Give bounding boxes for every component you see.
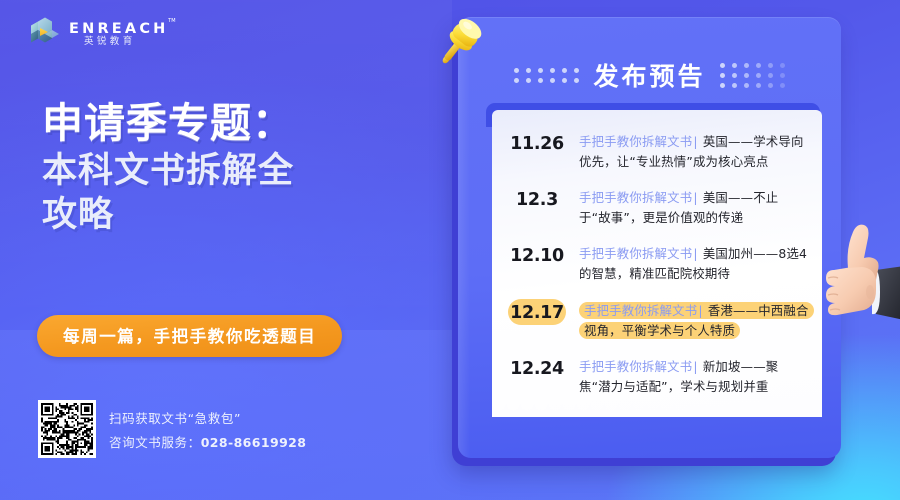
dot: [550, 68, 555, 73]
qr-caption: 扫码获取文书“急救包”: [109, 408, 306, 427]
schedule-card: 11.26手把手教你拆解文书| 英国——学术导向优先，让“专业热情”成为核心亮点…: [492, 110, 822, 415]
panel-title: 发布预告: [593, 57, 705, 93]
card-scalloped-edge: [492, 404, 822, 417]
dot: [550, 78, 555, 83]
dot: [732, 63, 737, 68]
dot: [538, 68, 543, 73]
tagline-pill: 每周一篇，手把手教你吃透题目: [37, 315, 342, 357]
headline-line-3: 攻略: [42, 197, 442, 233]
dot: [732, 83, 737, 88]
schedule-row-date: 12.10: [506, 244, 568, 266]
promo-poster: ENREACH TM 英锐教育 申请季专题： 本科文书拆解全 攻略 每周一篇，手…: [0, 0, 900, 500]
dot-pattern-left: [514, 68, 579, 83]
brand-wordmark: ENREACH TM: [69, 22, 169, 37]
pushpin-icon: [428, 12, 490, 74]
contact-phone: 028-86619928: [201, 435, 307, 450]
brand-wordmark-text: ENREACH: [69, 21, 169, 37]
dot: [744, 73, 749, 78]
dot: [514, 78, 519, 83]
schedule-row[interactable]: 12.17手把手教你拆解文书| 香港——中西融合视角，平衡学术与个人特质: [506, 296, 810, 347]
dot: [744, 63, 749, 68]
dot: [780, 73, 785, 78]
dot: [526, 68, 531, 73]
schedule-row-body: 手把手教你拆解文书| 英国——学术导向优先，让“专业热情”成为核心亮点: [579, 132, 810, 172]
qr-code-icon[interactable]: [38, 400, 96, 458]
dot: [514, 68, 519, 73]
headline-line-1: 申请季专题：: [42, 102, 442, 144]
dot: [768, 83, 773, 88]
dot: [780, 63, 785, 68]
dot: [756, 73, 761, 78]
schedule-row-date: 11.26: [506, 132, 568, 154]
brand-name-chinese: 英锐教育: [69, 37, 169, 47]
dot: [756, 63, 761, 68]
dot: [562, 68, 567, 73]
headline-block: 申请季专题： 本科文书拆解全 攻略: [42, 102, 442, 233]
schedule-row-body: 手把手教你拆解文书| 香港——中西融合视角，平衡学术与个人特质: [579, 301, 810, 341]
schedule-row-tag: 手把手教你拆解文书: [579, 359, 692, 374]
dot: [526, 78, 531, 83]
schedule-row-date: 12.24: [506, 357, 568, 379]
dot: [720, 73, 725, 78]
dot: [720, 83, 725, 88]
hexagon-arrow-logo-icon: [31, 17, 60, 51]
schedule-row-tag: 手把手教你拆解文书: [579, 134, 692, 149]
thumbs-up-hand-icon: [818, 196, 900, 324]
schedule-row-date: 12.3: [506, 188, 568, 210]
dot: [744, 83, 749, 88]
dot: [780, 83, 785, 88]
dot: [756, 83, 761, 88]
panel-header: 发布预告: [458, 52, 841, 98]
dot: [768, 73, 773, 78]
dot: [574, 68, 579, 73]
dot: [538, 78, 543, 83]
schedule-row[interactable]: 12.10手把手教你拆解文书| 美国加州——8选4的智慧，精准匹配院校期待: [506, 239, 810, 290]
schedule-row-tag: 手把手教你拆解文书: [584, 303, 697, 318]
headline-line-2: 本科文书拆解全: [42, 153, 442, 189]
schedule-row-tag: 手把手教你拆解文书: [579, 190, 692, 205]
trademark-symbol: TM: [168, 19, 175, 24]
dot: [720, 63, 725, 68]
schedule-row-date: 12.17: [506, 301, 568, 323]
dot: [574, 78, 579, 83]
schedule-row[interactable]: 12.3手把手教你拆解文书| 美国——不止于“故事”，更是价值观的传递: [506, 183, 810, 234]
schedule-list: 11.26手把手教你拆解文书| 英国——学术导向优先，让“专业热情”成为核心亮点…: [506, 127, 810, 403]
dot-pattern-right: [720, 63, 785, 88]
dot: [732, 73, 737, 78]
qr-contact-block: 扫码获取文书“急救包” 咨询文书服务：028-86619928: [38, 400, 306, 458]
dot: [768, 63, 773, 68]
schedule-row-body: 手把手教你拆解文书| 新加坡——聚焦“潜力与适配”，学术与规划并重: [579, 357, 810, 397]
schedule-row[interactable]: 12.24手把手教你拆解文书| 新加坡——聚焦“潜力与适配”，学术与规划并重: [506, 352, 810, 403]
contact-label: 咨询文书服务：: [109, 435, 201, 450]
schedule-row-tag: 手把手教你拆解文书: [579, 246, 692, 261]
schedule-row-body: 手把手教你拆解文书| 美国加州——8选4的智慧，精准匹配院校期待: [579, 244, 810, 284]
dot: [562, 78, 567, 83]
schedule-row-body: 手把手教你拆解文书| 美国——不止于“故事”，更是价值观的传递: [579, 188, 810, 228]
schedule-row[interactable]: 11.26手把手教你拆解文书| 英国——学术导向优先，让“专业热情”成为核心亮点: [506, 127, 810, 178]
contact-line: 咨询文书服务：028-86619928: [109, 432, 306, 451]
brand-logo: ENREACH TM 英锐教育: [31, 17, 169, 51]
